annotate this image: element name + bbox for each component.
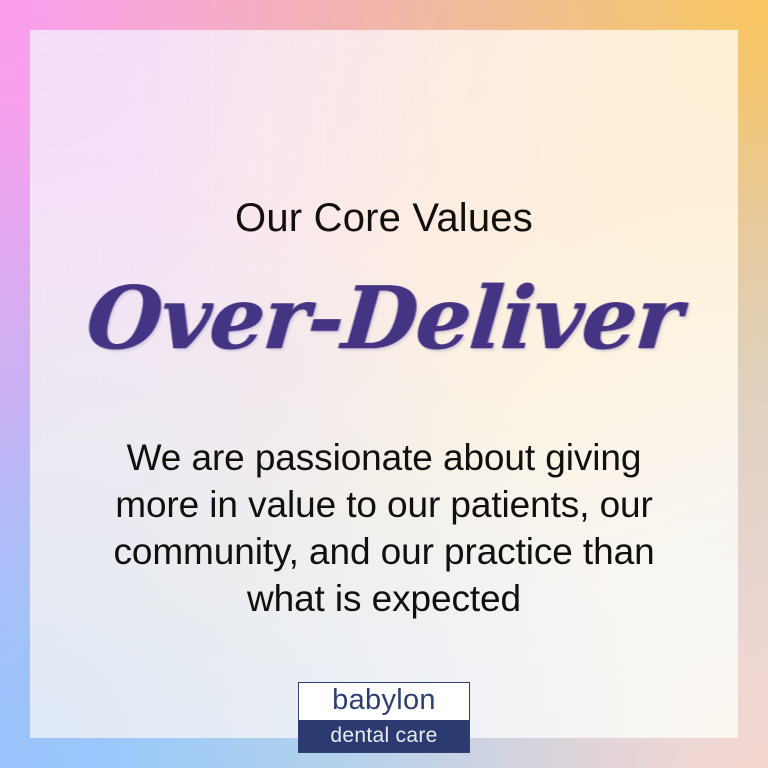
logo-tagline: dental care [299, 720, 469, 752]
poster-canvas: Our Core Values Over-Deliver We are pass… [0, 0, 768, 768]
babylon-dental-care-logo: babylon dental care [298, 682, 470, 753]
body-copy: We are passionate about giving more in v… [86, 434, 682, 622]
body-line: community, and our practice than [86, 528, 682, 575]
body-line: more in value to our patients, our [86, 481, 682, 528]
logo-brand-name: babylon [299, 683, 469, 720]
body-line: what is expected [86, 575, 682, 622]
page-title: Our Core Values [30, 198, 738, 238]
headline-script: Over-Deliver [26, 274, 742, 364]
texture-overlay [30, 30, 738, 738]
inner-card: Our Core Values Over-Deliver We are pass… [30, 30, 738, 738]
body-line: We are passionate about giving [86, 434, 682, 481]
